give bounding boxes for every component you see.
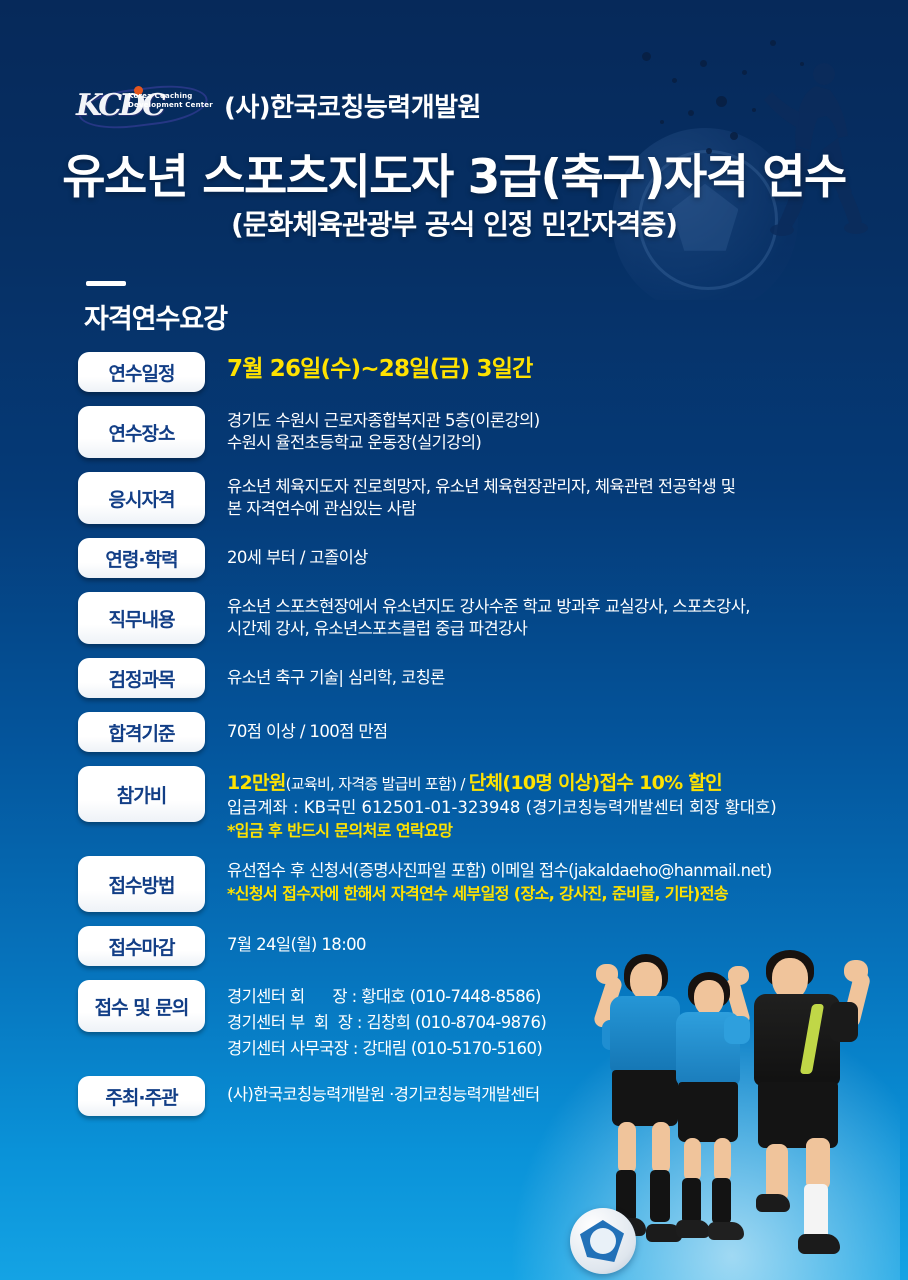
- row-value-deadline: 7월 24일(월) 18:00: [205, 926, 878, 956]
- row-value-duties: 유소년 스포츠현장에서 유소년지도 강사수준 학교 방과후 교실강사, 스포츠강…: [205, 592, 878, 640]
- application-method-note: *신청서 접수자에 한해서 자격연수 세부일정 (장소, 강사진, 준비물, 기…: [227, 882, 878, 905]
- row-label-deadline: 접수마감: [78, 926, 205, 966]
- host-organizer-line-1: (사)한국코칭능력개발원 ·경기코칭능력개발센터: [227, 1084, 878, 1106]
- row-label-venue: 연수장소: [78, 406, 205, 458]
- row-label-subjects: 검정과목: [78, 658, 205, 698]
- soccer-ball-photo-icon: [570, 1208, 636, 1274]
- row-value-pass-criteria: 70점 이상 / 100점 만점: [205, 712, 878, 743]
- row-value-host-organizer: (사)한국코칭능력개발원 ·경기코칭능력개발센터: [205, 1076, 878, 1106]
- contact-line-3: 경기센터 사무국장 : 강대림 (010-5170-5160): [227, 1036, 878, 1062]
- row-label-schedule: 연수일정: [78, 352, 205, 392]
- table-row: 합격기준 70점 이상 / 100점 만점: [78, 712, 878, 752]
- eligibility-line-2: 본 자격연수에 관심있는 사람: [227, 498, 878, 520]
- row-label-host-organizer: 주최·주관: [78, 1076, 205, 1116]
- table-row: 접수 및 문의 경기센터 회 장 : 황대호 (010-7448-8586) 경…: [78, 980, 878, 1062]
- fee-payment-note: *입금 후 반드시 문의처로 연락요망: [227, 819, 878, 842]
- contact-line-2: 경기센터 부 회 장 : 김창희 (010-8704-9876): [227, 1010, 878, 1036]
- table-row: 연령·학력 20세 부터 / 고졸이상: [78, 538, 878, 578]
- table-row: 주최·주관 (사)한국코칭능력개발원 ·경기코칭능력개발센터: [78, 1076, 878, 1116]
- info-table: 연수일정 7월 26일(수)~28일(금) 3일간 연수장소 경기도 수원시 근…: [78, 352, 878, 1130]
- logo-subtext-line2: Development Center: [128, 101, 213, 110]
- row-label-fee: 참가비: [78, 766, 205, 822]
- row-value-fee: 12만원(교육비, 자격증 발급비 포함) / 단체(10명 이상)접수 10%…: [205, 766, 878, 842]
- row-value-application-method: 유선접수 후 신청서(증명사진파일 포함) 이메일 접수(jakaldaeho@…: [205, 856, 878, 905]
- logo-subtext-line1: Korea Coaching: [128, 92, 213, 101]
- duties-line-2: 시간제 강사, 유소년스포츠클럽 중급 파견강사: [227, 618, 878, 640]
- row-label-contact: 접수 및 문의: [78, 980, 205, 1032]
- section-heading: 자격연수요강: [84, 297, 227, 336]
- row-value-venue: 경기도 수원시 근로자종합복지관 5층(이론강의) 수원시 율전초등학교 운동장…: [205, 406, 878, 454]
- subjects-line-1: 유소년 축구 기술| 심리학, 코칭론: [227, 667, 878, 689]
- row-value-eligibility: 유소년 체육지도자 진로희망자, 유소년 체육현장관리자, 체육관련 전공학생 …: [205, 472, 878, 520]
- table-row: 참가비 12만원(교육비, 자격증 발급비 포함) / 단체(10명 이상)접수…: [78, 766, 878, 842]
- page-subtitle: (문화체육관광부 공식 인정 민간자격증): [0, 203, 908, 243]
- fee-bank-account: 입금계좌 : KB국민 612501-01-323948 (경기코칭능력개발센터…: [227, 797, 878, 819]
- fee-group-discount: 단체(10명 이상)접수 10% 할인: [469, 772, 722, 794]
- row-label-application-method: 접수방법: [78, 856, 205, 912]
- kcdc-logo-icon: KCDC Korea Coaching Development Center: [76, 84, 208, 126]
- fee-amount-note: (교육비, 자격증 발급비 포함) /: [286, 775, 469, 793]
- table-row: 연수일정 7월 26일(수)~28일(금) 3일간: [78, 352, 878, 392]
- row-label-age-education: 연령·학력: [78, 538, 205, 578]
- row-value-subjects: 유소년 축구 기술| 심리학, 코칭론: [205, 658, 878, 689]
- deadline-datetime: 7월 24일(월) 18:00: [227, 934, 878, 956]
- row-label-duties: 직무내용: [78, 592, 205, 644]
- logo-subtext: Korea Coaching Development Center: [128, 92, 213, 110]
- logo-row: KCDC Korea Coaching Development Center (…: [76, 84, 481, 126]
- page-title: 유소년 스포츠지도자 3급(축구)자격 연수: [0, 138, 908, 207]
- table-row: 연수장소 경기도 수원시 근로자종합복지관 5층(이론강의) 수원시 율전초등학…: [78, 406, 878, 458]
- contact-line-1: 경기센터 회 장 : 황대호 (010-7448-8586): [227, 984, 878, 1010]
- table-row: 접수마감 7월 24일(월) 18:00: [78, 926, 878, 966]
- application-method-line: 유선접수 후 신청서(증명사진파일 포함) 이메일 접수(jakaldaeho@…: [227, 860, 878, 882]
- schedule-dates: 7월 26일(수)~28일(금) 3일간: [227, 354, 878, 384]
- fee-headline: 12만원(교육비, 자격증 발급비 포함) / 단체(10명 이상)접수 10%…: [227, 770, 878, 797]
- row-value-schedule: 7월 26일(수)~28일(금) 3일간: [205, 352, 878, 384]
- venue-line-1: 경기도 수원시 근로자종합복지관 5층(이론강의): [227, 410, 878, 432]
- table-row: 직무내용 유소년 스포츠현장에서 유소년지도 강사수준 학교 방과후 교실강사,…: [78, 592, 878, 644]
- table-row: 접수방법 유선접수 후 신청서(증명사진파일 포함) 이메일 접수(jakald…: [78, 856, 878, 912]
- pass-criteria-line-1: 70점 이상 / 100점 만점: [227, 721, 878, 743]
- venue-line-2: 수원시 율전초등학교 운동장(실기강의): [227, 432, 878, 454]
- poster-root: KCDC Korea Coaching Development Center (…: [0, 0, 908, 1280]
- table-row: 검정과목 유소년 축구 기술| 심리학, 코칭론: [78, 658, 878, 698]
- section-divider: [86, 281, 126, 286]
- fee-amount: 12만원: [227, 772, 286, 794]
- row-value-contact: 경기센터 회 장 : 황대호 (010-7448-8586) 경기센터 부 회 …: [205, 980, 878, 1062]
- row-label-eligibility: 응시자격: [78, 472, 205, 524]
- row-value-age-education: 20세 부터 / 고졸이상: [205, 538, 878, 569]
- eligibility-line-1: 유소년 체육지도자 진로희망자, 유소년 체육현장관리자, 체육관련 전공학생 …: [227, 476, 878, 498]
- row-label-pass-criteria: 합격기준: [78, 712, 205, 752]
- age-education-line-1: 20세 부터 / 고졸이상: [227, 547, 878, 569]
- organization-name: (사)한국코칭능력개발원: [224, 87, 481, 124]
- table-row: 응시자격 유소년 체육지도자 진로희망자, 유소년 체육현장관리자, 체육관련 …: [78, 472, 878, 524]
- duties-line-1: 유소년 스포츠현장에서 유소년지도 강사수준 학교 방과후 교실강사, 스포츠강…: [227, 596, 878, 618]
